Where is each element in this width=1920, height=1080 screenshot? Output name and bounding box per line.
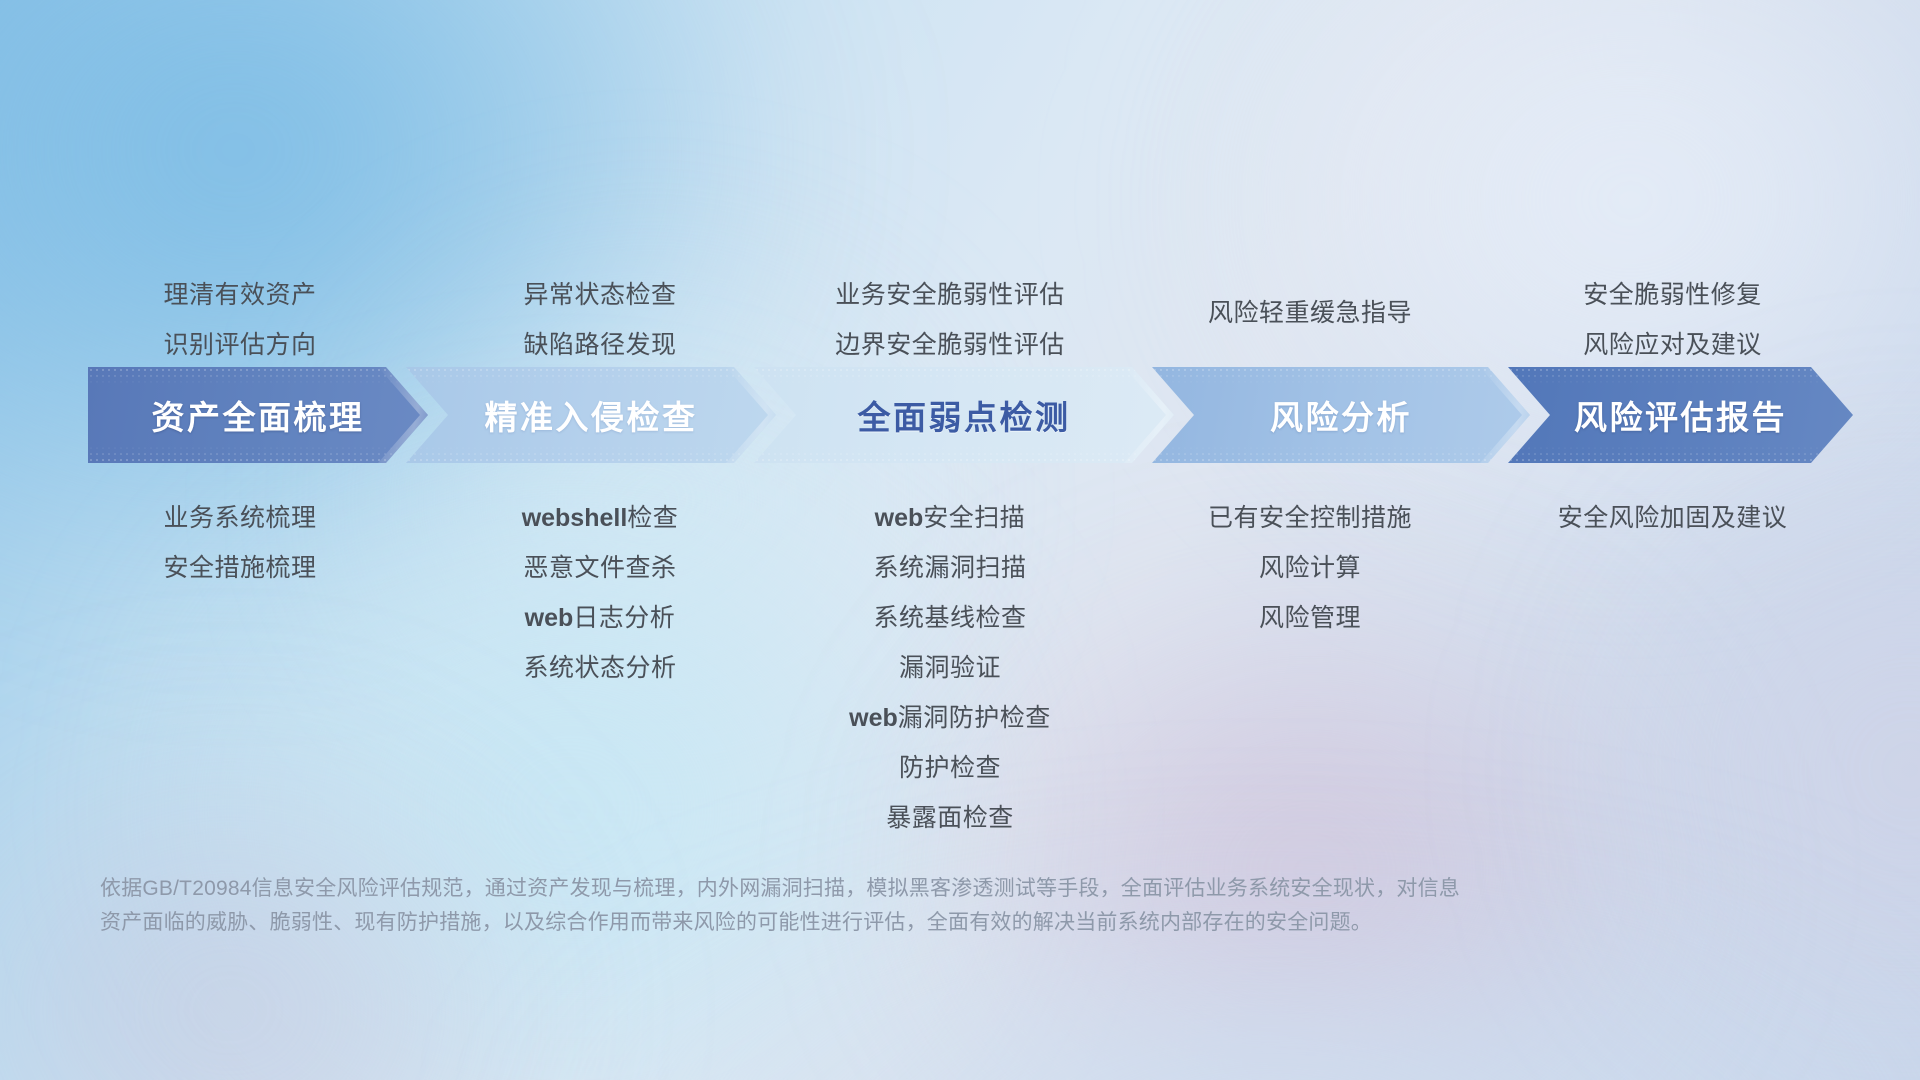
- process-chevron-banner: 资产全面梳理 精准入侵检查 全面弱点检测 风险分析 风险评估报告: [88, 367, 1853, 463]
- stage-bottom-item: 业务系统梳理: [90, 493, 390, 543]
- cjk-token: 系统状态分析: [523, 654, 676, 682]
- cjk-token: 日志分析: [573, 604, 675, 632]
- latin-token: webshell: [522, 504, 628, 532]
- stage-bottom-item: 风险计算: [1150, 543, 1470, 593]
- footer-line: 依据GB/T20984信息安全风险评估规范，通过资产发现与梳理，内外网漏洞扫描，…: [100, 872, 1620, 906]
- slide-canvas: 理清有效资产 识别评估方向 业务系统梳理 安全措施梳理 异常状态检查 缺陷路径发…: [0, 0, 1920, 1080]
- stage-bottom-item: 已有安全控制措施: [1150, 493, 1470, 543]
- cjk-token: 暴露面检查: [886, 804, 1014, 832]
- stage-bottom-items: 业务系统梳理 安全措施梳理: [90, 493, 390, 593]
- cjk-token: 风险管理: [1259, 604, 1361, 632]
- chevron-label: 精准入侵检查: [485, 391, 698, 439]
- chevron-label: 风险分析: [1270, 391, 1412, 439]
- chevron-label: 全面弱点检测: [858, 391, 1071, 439]
- stage-top-items: 理清有效资产 识别评估方向: [90, 270, 390, 370]
- stage-top-item: 识别评估方向: [90, 320, 390, 370]
- stage-bottom-item: webshell检查: [450, 493, 750, 543]
- cjk-token: 业务系统梳理: [163, 504, 316, 532]
- stage-top-item: 异常状态检查: [450, 270, 750, 320]
- chevron-label: 风险评估报告: [1574, 391, 1787, 439]
- stage-bottom-item: web日志分析: [450, 593, 750, 643]
- footer-description: 依据GB/T20984信息安全风险评估规范，通过资产发现与梳理，内外网漏洞扫描，…: [100, 872, 1620, 940]
- chevron-stage-risk-report[interactable]: 风险评估报告: [1508, 367, 1853, 463]
- stage-bottom-item: 风险管理: [1150, 593, 1470, 643]
- stage-bottom-item: 安全措施梳理: [90, 543, 390, 593]
- chevron-stage-risk-analysis[interactable]: 风险分析: [1152, 367, 1530, 463]
- stage-top-item: 边界安全脆弱性评估: [770, 320, 1130, 370]
- stage-top-item: 风险轻重缓急指导: [1150, 288, 1470, 338]
- cjk-token: 漏洞验证: [899, 654, 1001, 682]
- cjk-token: 检查: [627, 504, 678, 532]
- latin-token: web: [875, 504, 924, 532]
- cjk-token: 防护检查: [899, 754, 1001, 782]
- stage-bottom-items: webshell检查 恶意文件查杀 web日志分析 系统状态分析: [450, 493, 750, 693]
- stage-top-item: 缺陷路径发现: [450, 320, 750, 370]
- stage-bottom-item: 安全风险加固及建议: [1495, 493, 1850, 543]
- stage-bottom-items: web安全扫描 系统漏洞扫描 系统基线检查 漏洞验证 web漏洞防护检查 防护检…: [770, 493, 1130, 843]
- stage-bottom-item: 系统状态分析: [450, 643, 750, 693]
- stage-top-items: 风险轻重缓急指导: [1150, 288, 1470, 338]
- cjk-token: 已有安全控制措施: [1208, 504, 1412, 532]
- stage-bottom-items: 安全风险加固及建议: [1495, 493, 1850, 543]
- chevron-stage-intrusion-check[interactable]: 精准入侵检查: [406, 367, 776, 463]
- chevron-label: 资产全面梳理: [152, 391, 365, 439]
- cjk-token: 漏洞防护检查: [898, 704, 1051, 732]
- stage-top-items: 安全脆弱性修复 风险应对及建议: [1495, 270, 1850, 370]
- cjk-token: 系统基线检查: [873, 604, 1026, 632]
- stage-top-items: 业务安全脆弱性评估 边界安全脆弱性评估: [770, 270, 1130, 370]
- stage-bottom-item: 防护检查: [770, 743, 1130, 793]
- chevron-stage-weakness-detection[interactable]: 全面弱点检测: [754, 367, 1174, 463]
- latin-token: web: [849, 704, 898, 732]
- stage-bottom-item: web安全扫描: [770, 493, 1130, 543]
- stage-top-item: 风险应对及建议: [1495, 320, 1850, 370]
- cjk-token: 安全扫描: [923, 504, 1025, 532]
- stage-bottom-item: 漏洞验证: [770, 643, 1130, 693]
- stage-bottom-items: 已有安全控制措施 风险计算 风险管理: [1150, 493, 1470, 643]
- stage-top-item: 业务安全脆弱性评估: [770, 270, 1130, 320]
- stage-bottom-item: web漏洞防护检查: [770, 693, 1130, 743]
- stage-top-items: 异常状态检查 缺陷路径发现: [450, 270, 750, 370]
- stage-top-item: 安全脆弱性修复: [1495, 270, 1850, 320]
- stage-bottom-item: 暴露面检查: [770, 793, 1130, 843]
- chevron-stage-asset-inventory[interactable]: 资产全面梳理: [88, 367, 428, 463]
- latin-token: web: [525, 604, 574, 632]
- stage-bottom-item: 系统基线检查: [770, 593, 1130, 643]
- cjk-token: 安全风险加固及建议: [1558, 504, 1788, 532]
- stage-bottom-item: 恶意文件查杀: [450, 543, 750, 593]
- cjk-token: 恶意文件查杀: [523, 554, 676, 582]
- stage-bottom-item: 系统漏洞扫描: [770, 543, 1130, 593]
- cjk-token: 安全措施梳理: [163, 554, 316, 582]
- cjk-token: 风险计算: [1259, 554, 1361, 582]
- stage-top-item: 理清有效资产: [90, 270, 390, 320]
- cjk-token: 系统漏洞扫描: [873, 554, 1026, 582]
- footer-line: 资产面临的威胁、脆弱性、现有防护措施，以及综合作用而带来风险的可能性进行评估，全…: [100, 906, 1620, 940]
